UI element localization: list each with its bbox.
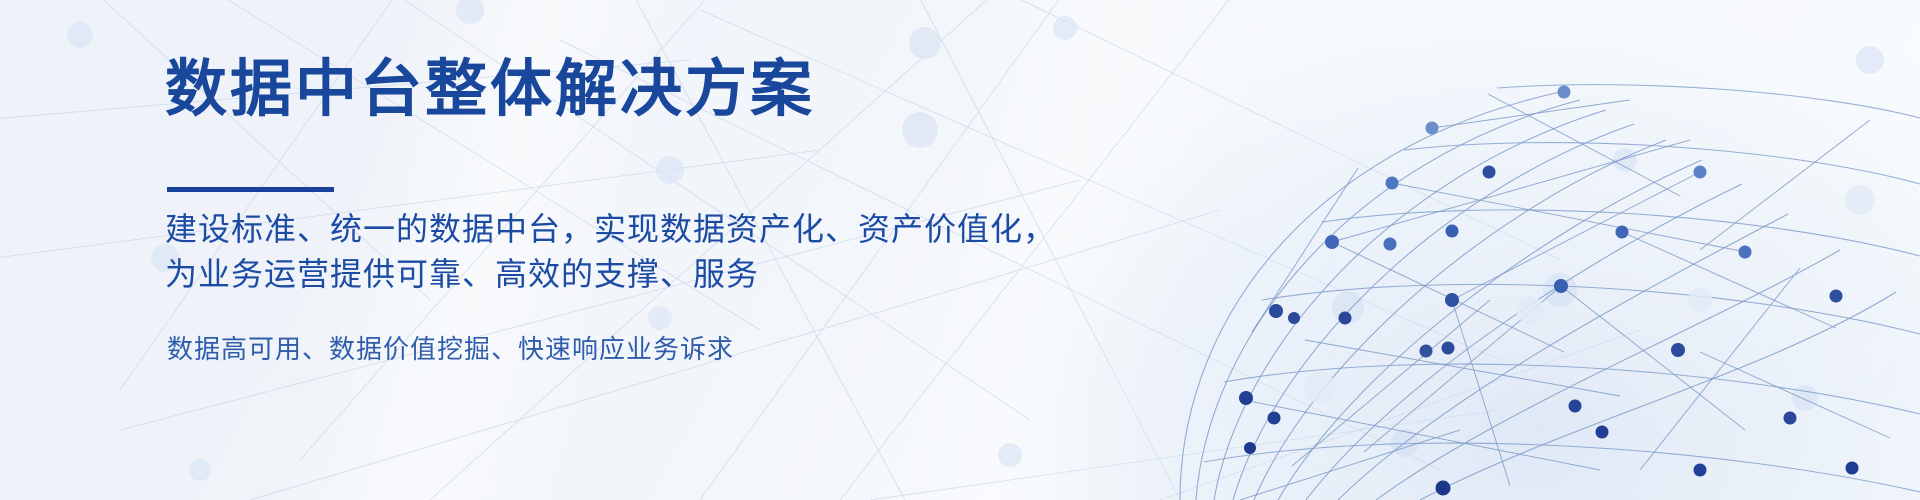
banner-content: 数据中台整体解决方案 建设标准、统一的数据中台，实现数据资产化、资产价值化， 为… xyxy=(165,0,1265,500)
title-divider xyxy=(167,187,334,192)
hero-banner: 数据中台整体解决方案 建设标准、统一的数据中台，实现数据资产化、资产价值化， 为… xyxy=(0,0,1920,500)
background-glow xyxy=(1200,0,1920,500)
banner-tagline: 数据高可用、数据价值挖掘、快速响应业务诉求 xyxy=(167,333,734,367)
subtitle-line-1: 建设标准、统一的数据中台，实现数据资产化、资产价值化， xyxy=(165,207,1056,252)
page-title: 数据中台整体解决方案 xyxy=(165,57,815,122)
banner-subtitle: 建设标准、统一的数据中台，实现数据资产化、资产价值化， 为业务运营提供可靠、高效… xyxy=(165,207,1056,297)
subtitle-line-2: 为业务运营提供可靠、高效的支撑、服务 xyxy=(165,252,1056,297)
